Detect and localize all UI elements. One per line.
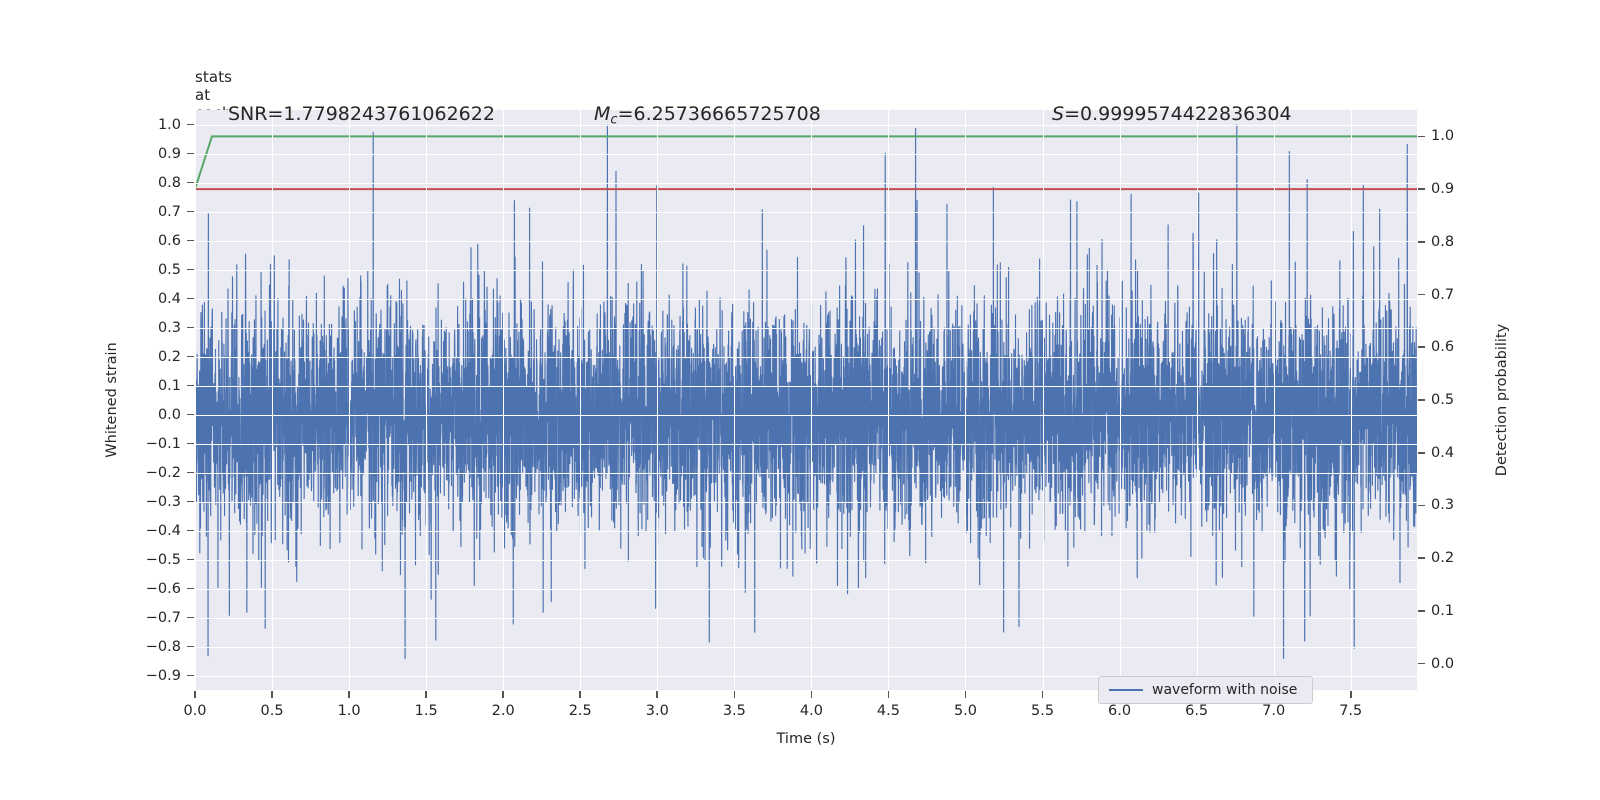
x-tick-label: 0.0 <box>183 704 206 719</box>
gridline-horizontal <box>195 502 1417 503</box>
y-tick-mark-right <box>1418 241 1425 243</box>
y-tick-label-right: 0.5 <box>1431 393 1479 408</box>
plot-area <box>195 110 1417 690</box>
gridline-horizontal <box>195 647 1417 648</box>
x-tick-label: 6.0 <box>1108 704 1131 719</box>
gridline-vertical <box>734 110 735 690</box>
legend-line-swatch-waveform <box>1109 689 1143 691</box>
y-tick-label-left: 0.5 <box>133 262 181 277</box>
annotation-chirp-mass-eq: = <box>618 103 634 125</box>
gridline-horizontal <box>195 473 1417 474</box>
gridline-horizontal <box>195 531 1417 532</box>
y-tick-label-right: 0.6 <box>1431 340 1479 355</box>
annotation-snr: SNR=1.7798243761062622 <box>228 105 495 124</box>
y-tick-mark-left <box>187 646 194 648</box>
y-tick-mark-left <box>187 298 194 300</box>
x-tick-label: 0.5 <box>261 704 284 719</box>
y-tick-label-left: 0.1 <box>133 378 181 393</box>
y-tick-mark-left <box>187 385 194 387</box>
gridline-vertical <box>657 110 658 690</box>
y-tick-label-left: 0.8 <box>133 175 181 190</box>
x-tick-mark <box>579 691 581 698</box>
y-tick-label-left: 0.4 <box>133 291 181 306</box>
gridline-vertical <box>1197 110 1198 690</box>
x-tick-label: 2.0 <box>492 704 515 719</box>
y-axis-label-left: Whitened strain <box>104 342 120 457</box>
y-tick-label-right: 0.8 <box>1431 235 1479 250</box>
gridline-vertical <box>811 110 812 690</box>
y-tick-mark-right <box>1418 399 1425 401</box>
y-tick-label-left: −0.2 <box>133 465 181 480</box>
annotation-chirp-mass-subscript: c <box>610 113 617 128</box>
y-tick-mark-right <box>1418 663 1425 665</box>
y-tick-mark-left <box>187 240 194 242</box>
x-tick-label: 1.5 <box>415 704 438 719</box>
gridline-vertical <box>888 110 889 690</box>
annotation-chirp-mass: Mc=6.25736665725708 <box>594 105 821 127</box>
gridline-vertical <box>195 110 196 690</box>
x-tick-label: 4.5 <box>877 704 900 719</box>
gridline-vertical <box>965 110 966 690</box>
y-tick-label-left: 0.7 <box>133 204 181 219</box>
y-tick-label-left: −0.6 <box>133 581 181 596</box>
y-tick-label-right: 0.1 <box>1431 604 1479 619</box>
x-tick-mark <box>1350 691 1352 698</box>
gridline-horizontal <box>195 589 1417 590</box>
y-tick-label-left: 0.6 <box>133 233 181 248</box>
x-tick-mark <box>888 691 890 698</box>
y-tick-label-left: 1.0 <box>133 117 181 132</box>
gridline-vertical <box>426 110 427 690</box>
y-tick-mark-left <box>187 327 194 329</box>
gridline-horizontal <box>195 328 1417 329</box>
y-tick-label-right: 1.0 <box>1431 129 1479 144</box>
x-tick-label: 5.0 <box>954 704 977 719</box>
plot-canvas <box>195 110 1417 690</box>
annotation-score-eq: = <box>1064 103 1080 125</box>
gridline-horizontal <box>195 444 1417 445</box>
x-tick-mark <box>348 691 350 698</box>
annotation-chirp-mass-symbol: M <box>594 103 610 125</box>
y-tick-label-right: 0.9 <box>1431 182 1479 197</box>
x-tick-label: 7.0 <box>1262 704 1285 719</box>
y-tick-label-right: 0.7 <box>1431 287 1479 302</box>
x-tick-mark <box>1042 691 1044 698</box>
gridline-horizontal <box>195 270 1417 271</box>
x-tick-label: 5.5 <box>1031 704 1054 719</box>
x-axis-label: Time (s) <box>777 731 836 747</box>
y-tick-mark-right <box>1418 136 1425 138</box>
y-tick-mark-right <box>1418 294 1425 296</box>
y-tick-label-left: −0.3 <box>133 494 181 509</box>
y-tick-mark-left <box>187 124 194 126</box>
y-tick-label-left: −0.9 <box>133 668 181 683</box>
gridline-horizontal <box>195 154 1417 155</box>
y-tick-label-left: −0.1 <box>133 436 181 451</box>
x-tick-label: 7.5 <box>1339 704 1362 719</box>
y-tick-mark-left <box>187 588 194 590</box>
x-tick-label: 3.5 <box>723 704 746 719</box>
gridline-vertical <box>503 110 504 690</box>
annotation-score: S=0.9999574422836304 <box>1052 105 1292 124</box>
gridline-horizontal <box>195 386 1417 387</box>
y-tick-mark-left <box>187 530 194 532</box>
x-tick-mark <box>734 691 736 698</box>
annotation-chirp-mass-value: 6.25736665725708 <box>633 103 820 125</box>
y-tick-mark-right <box>1418 610 1425 612</box>
annotation-snr-text: SNR=1.7798243761062622 <box>228 103 495 125</box>
y-tick-mark-left <box>187 182 194 184</box>
x-tick-mark <box>656 691 658 698</box>
y-tick-mark-left <box>187 617 194 619</box>
x-tick-label: 3.0 <box>646 704 669 719</box>
legend-label-waveform: waveform with noise <box>1152 682 1297 698</box>
y-tick-label-left: −0.4 <box>133 523 181 538</box>
gridline-horizontal <box>195 299 1417 300</box>
y-tick-mark-left <box>187 269 194 271</box>
gridline-horizontal <box>195 618 1417 619</box>
y-tick-mark-left <box>187 443 194 445</box>
gridline-vertical <box>349 110 350 690</box>
gridline-vertical <box>1274 110 1275 690</box>
legend: waveform with noise <box>1098 676 1313 704</box>
gridline-horizontal <box>195 241 1417 242</box>
figure: stats at each timestep for test data 114… <box>0 0 1600 800</box>
annotation-score-symbol: S <box>1052 103 1064 125</box>
gridline-horizontal <box>195 357 1417 358</box>
y-tick-label-right: 0.0 <box>1431 656 1479 671</box>
gridline-vertical <box>1120 110 1121 690</box>
y-tick-label-left: 0.9 <box>133 146 181 161</box>
y-tick-label-right: 0.2 <box>1431 551 1479 566</box>
y-tick-mark-right <box>1418 346 1425 348</box>
x-tick-mark <box>271 691 273 698</box>
gridline-horizontal <box>195 183 1417 184</box>
y-tick-mark-left <box>187 356 194 358</box>
y-axis-label-right: Detection probability <box>1494 324 1510 476</box>
gridline-horizontal <box>195 415 1417 416</box>
y-tick-mark-right <box>1418 188 1425 190</box>
y-tick-mark-right <box>1418 452 1425 454</box>
y-tick-label-left: −0.7 <box>133 610 181 625</box>
gridline-vertical <box>1043 110 1044 690</box>
x-tick-mark <box>194 691 196 698</box>
x-tick-label: 4.0 <box>800 704 823 719</box>
gridline-horizontal <box>195 560 1417 561</box>
y-tick-mark-left <box>187 501 194 503</box>
y-tick-mark-left <box>187 472 194 474</box>
y-tick-label-right: 0.4 <box>1431 445 1479 460</box>
x-tick-mark <box>965 691 967 698</box>
y-tick-label-left: 0.2 <box>133 349 181 364</box>
y-tick-mark-left <box>187 559 194 561</box>
gridline-vertical <box>272 110 273 690</box>
y-tick-label-left: 0.0 <box>133 407 181 422</box>
x-tick-mark <box>502 691 504 698</box>
waveform-with-noise-line <box>195 125 1417 659</box>
gridline-horizontal <box>195 212 1417 213</box>
annotation-score-value: 0.9999574422836304 <box>1080 103 1292 125</box>
detection-probability-line <box>195 136 1417 189</box>
y-tick-mark-right <box>1418 557 1425 559</box>
x-tick-label: 6.5 <box>1185 704 1208 719</box>
y-tick-label-left: −0.5 <box>133 552 181 567</box>
x-tick-label: 2.5 <box>569 704 592 719</box>
y-tick-label-right: 0.3 <box>1431 498 1479 513</box>
y-tick-label-left: 0.3 <box>133 320 181 335</box>
y-tick-mark-left <box>187 675 194 677</box>
y-tick-mark-right <box>1418 505 1425 507</box>
y-tick-mark-left <box>187 414 194 416</box>
x-tick-label: 1.0 <box>338 704 361 719</box>
y-tick-mark-left <box>187 153 194 155</box>
x-tick-mark <box>425 691 427 698</box>
y-tick-mark-left <box>187 211 194 213</box>
gridline-vertical <box>1351 110 1352 690</box>
x-tick-mark <box>811 691 813 698</box>
gridline-vertical <box>580 110 581 690</box>
y-tick-label-left: −0.8 <box>133 639 181 654</box>
